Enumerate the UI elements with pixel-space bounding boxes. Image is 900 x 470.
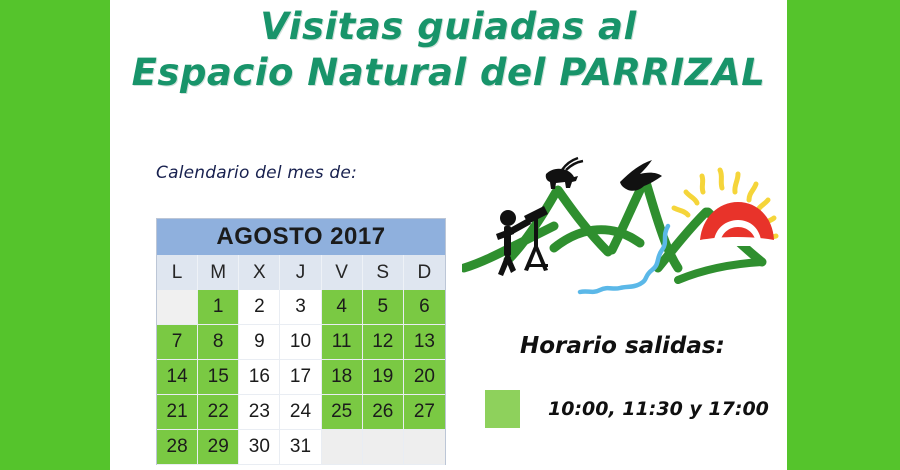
calendar-month-title: AGOSTO 2017	[157, 219, 445, 255]
calendar-day-7[interactable]: 7	[157, 325, 198, 360]
title-line-2: Espacio Natural del PARRIZAL	[110, 50, 787, 96]
calendar-day-11[interactable]: 11	[322, 325, 363, 360]
calendar-day-16[interactable]: 16	[239, 360, 280, 395]
calendar-day-5[interactable]: 5	[363, 290, 404, 325]
calendar-day-2[interactable]: 2	[239, 290, 280, 325]
schedule-heading: Horario salidas:	[520, 333, 725, 359]
calendar-day-empty	[157, 290, 198, 325]
calendar-day-empty	[363, 430, 404, 465]
calendar-dow-v-4: V	[322, 255, 363, 290]
calendar-dow-s-5: S	[363, 255, 404, 290]
calendar-dow-l-0: L	[157, 255, 198, 290]
calendar-day-3[interactable]: 3	[280, 290, 321, 325]
calendar-day-25[interactable]: 25	[322, 395, 363, 430]
legend-green-swatch	[485, 390, 520, 428]
ibex-icon	[546, 158, 583, 189]
calendar-day-21[interactable]: 21	[157, 395, 198, 430]
calendar-intro-label: Calendario del mes de:	[156, 163, 357, 183]
calendar-day-20[interactable]: 20	[404, 360, 445, 395]
calendar-day-grid: 1234567891011121314151617181920212223242…	[157, 290, 445, 465]
calendar-day-empty	[322, 430, 363, 465]
calendar-day-17[interactable]: 17	[280, 360, 321, 395]
calendar-day-29[interactable]: 29	[198, 430, 239, 465]
calendar-day-30[interactable]: 30	[239, 430, 280, 465]
calendar-dow-m-1: M	[198, 255, 239, 290]
calendar-day-4[interactable]: 4	[322, 290, 363, 325]
calendar-day-6[interactable]: 6	[404, 290, 445, 325]
calendar-day-8[interactable]: 8	[198, 325, 239, 360]
calendar-day-31[interactable]: 31	[280, 430, 321, 465]
calendar-day-14[interactable]: 14	[157, 360, 198, 395]
calendar-day-26[interactable]: 26	[363, 395, 404, 430]
calendar-day-19[interactable]: 19	[363, 360, 404, 395]
title-line-1: Visitas guiadas al	[110, 4, 787, 50]
calendar-day-24[interactable]: 24	[280, 395, 321, 430]
calendar-day-18[interactable]: 18	[322, 360, 363, 395]
right-green-border	[787, 0, 900, 470]
calendar-widget: AGOSTO 2017 LMXJVSD 12345678910111213141…	[156, 218, 446, 465]
calendar-day-empty	[404, 430, 445, 465]
legend-times-text: 10:00, 11:30 y 17:00	[548, 398, 769, 420]
calendar-day-22[interactable]: 22	[198, 395, 239, 430]
poster-canvas: Visitas guiadas al Espacio Natural del P…	[110, 0, 787, 470]
calendar-day-12[interactable]: 12	[363, 325, 404, 360]
calendar-dow-d-6: D	[404, 255, 445, 290]
calendar-day-1[interactable]: 1	[198, 290, 239, 325]
parrizal-nature-logo	[462, 140, 782, 300]
calendar-day-10[interactable]: 10	[280, 325, 321, 360]
calendar-day-28[interactable]: 28	[157, 430, 198, 465]
calendar-dow-j-3: J	[280, 255, 321, 290]
calendar-day-15[interactable]: 15	[198, 360, 239, 395]
schedule-legend: 10:00, 11:30 y 17:00	[485, 390, 769, 428]
calendar-day-headers: LMXJVSD	[157, 255, 445, 290]
calendar-day-9[interactable]: 9	[239, 325, 280, 360]
poster-title: Visitas guiadas al Espacio Natural del P…	[110, 4, 787, 96]
vulture-icon	[620, 160, 662, 191]
calendar-day-23[interactable]: 23	[239, 395, 280, 430]
left-green-border	[0, 0, 110, 470]
calendar-day-27[interactable]: 27	[404, 395, 445, 430]
calendar-dow-x-2: X	[239, 255, 280, 290]
calendar-day-13[interactable]: 13	[404, 325, 445, 360]
